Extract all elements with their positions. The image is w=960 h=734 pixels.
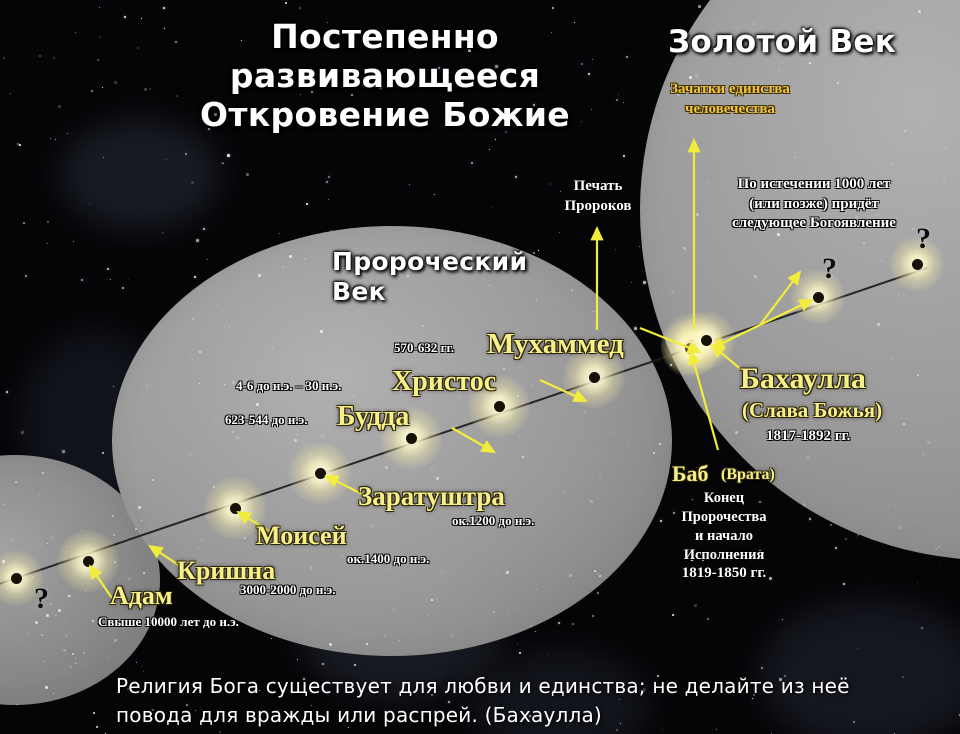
prophet-date-krishna: 3000-2000 до н.э. (240, 582, 336, 598)
page-title-left: Постепенно развивающееся Откровение Божи… (180, 18, 590, 135)
next-manifestation-line3: следующее Богоявление (700, 214, 928, 234)
footer-quote-line1: Религия Бога существует для любви и един… (116, 672, 886, 701)
seal-of-prophets-note: Печать Пророков (536, 177, 660, 216)
manifestation-meaning-bahaullah: (Слава Божья) (742, 398, 882, 423)
prophet-name-moses: Моисей (256, 521, 347, 551)
prophet-date-christ: 4-6 до н.э. – 30 н.э. (236, 378, 341, 394)
star-core (11, 573, 22, 584)
manifestation-desc-bab: Конец Пророчества и начало Исполнения 18… (660, 489, 788, 584)
next-manifestation-line1: По истечении 1000 лет (700, 175, 928, 195)
seal-of-prophets-line1: Печать (536, 177, 660, 197)
page-title-right-text: Золотой Век (668, 24, 896, 60)
star-core (813, 292, 824, 303)
star-core (494, 401, 505, 412)
bab-dates: 1819-1850 гг. (660, 564, 788, 584)
manifestation-dates-bahaullah: 1817-1892 гг. (766, 428, 850, 445)
footer-quote: Религия Бога существует для любви и един… (116, 672, 886, 730)
star-core (230, 503, 241, 514)
manifestation-meaning-bab: (Врата) (721, 466, 775, 484)
page-title-left-line3: Откровение Божие (180, 96, 590, 135)
prophet-name-buddha: Будда (337, 401, 409, 433)
star-core (406, 433, 417, 444)
manifestation-name-bab: Баб (672, 461, 709, 487)
prophet-date-adam: Свыше 10000 лет до н.э. (98, 614, 239, 630)
prophet-name-christ: Христос (392, 366, 496, 398)
unity-seeds-line1: Зачатки единства (630, 80, 830, 100)
star-bahaullah (677, 311, 735, 369)
question-mark-future-2: ? (916, 222, 931, 256)
manifestation-name-bahaullah: Бахаулла (740, 362, 866, 396)
prophet-name-adam: Адам (110, 581, 173, 611)
prophet-name-zoroaster: Заратуштра (358, 481, 505, 512)
prophet-date-buddha: 623-544 до н.э. (225, 412, 308, 428)
unity-seeds-note: Зачатки единства человечества (630, 80, 830, 119)
page-title-left-line1: Постепенно (180, 18, 590, 57)
prophet-date-moses: ок.1400 до н.э. (347, 551, 429, 567)
star-core (701, 335, 712, 346)
unity-seeds-line2: человечества (630, 100, 830, 120)
star-moses (289, 442, 351, 504)
prophet-name-muhammad: Мухаммед (487, 328, 624, 361)
next-manifestation-line2: (или позже) придёт (700, 195, 928, 215)
seal-of-prophets-line2: Пророков (536, 197, 660, 217)
star-core (315, 468, 326, 479)
prophet-date-zoroaster: ок.1200 до н.э. (452, 513, 534, 529)
bab-desc-line2: Пророчества (660, 508, 788, 527)
star-core (589, 372, 600, 383)
prophet-date-muhammad: 570-632 гг. (394, 340, 454, 356)
star-core (912, 259, 923, 270)
star-core (83, 556, 94, 567)
page-title-left-line2: развивающееся (180, 57, 590, 96)
bab-desc-line3: и начало (660, 527, 788, 546)
prophetic-age-label-line1: Пророческий (332, 247, 527, 277)
question-mark-past: ? (34, 582, 49, 616)
prophetic-age-label: Пророческий Век (332, 247, 527, 306)
question-mark-future-1: ? (822, 252, 837, 286)
bab-desc-line1: Конец (660, 489, 788, 508)
bab-desc-line4: Исполнения (660, 546, 788, 565)
infographic-canvas: Постепенно развивающееся Откровение Божи… (0, 0, 960, 734)
next-manifestation-note: По истечении 1000 лет (или позже) придёт… (700, 175, 928, 234)
prophetic-age-label-line2: Век (332, 277, 527, 307)
page-title-right: Золотой Век (668, 24, 896, 61)
footer-quote-line2: повода для вражды или распрей. (Бахаулла… (116, 701, 886, 730)
